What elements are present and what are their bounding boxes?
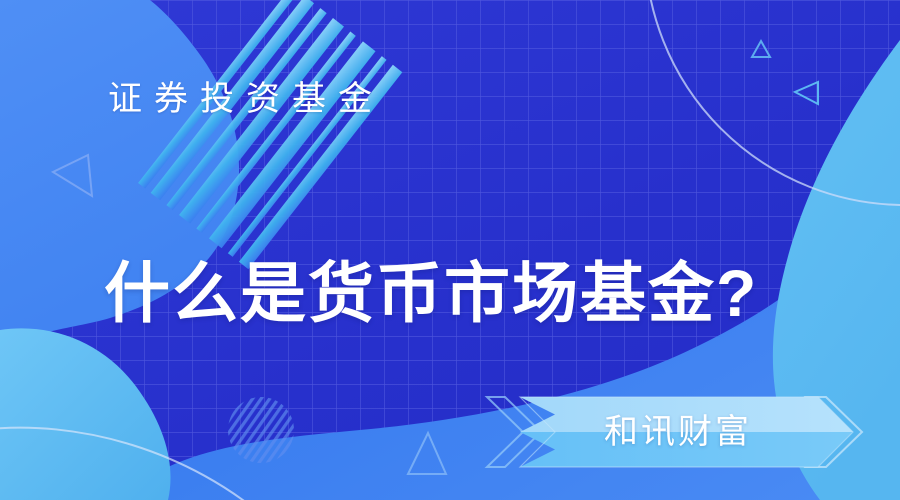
brand-badge-label: 和讯财富 xyxy=(568,408,788,456)
page-title: 什么是货币市场基金? xyxy=(104,251,758,335)
hatched-circle xyxy=(228,397,294,463)
subtitle: 证券投资基金 xyxy=(108,76,384,122)
promo-banner: 证券投资基金 什么是货币市场基金? 和讯财富 xyxy=(0,0,900,500)
